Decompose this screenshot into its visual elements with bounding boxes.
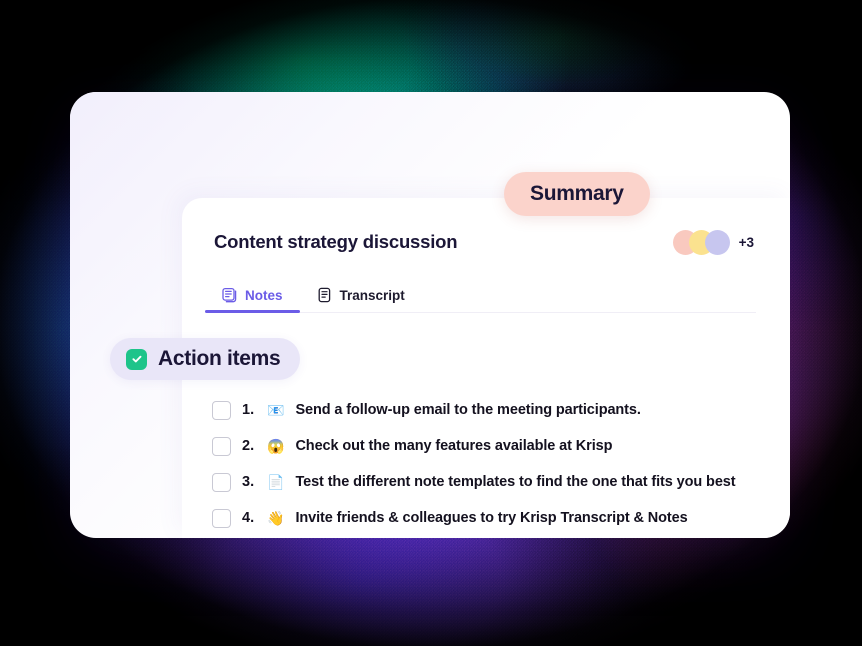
action-items-label: Action items xyxy=(158,347,280,371)
tab-bar: Notes Transcript xyxy=(216,276,756,313)
checkmark-icon xyxy=(126,349,147,370)
task-number: 1. xyxy=(242,402,256,418)
task-checkbox[interactable] xyxy=(212,473,231,492)
action-items-badge: Action items xyxy=(110,338,300,380)
tab-notes[interactable]: Notes xyxy=(216,287,289,312)
task-text: Test the different note templates to fin… xyxy=(295,474,735,490)
participants: +3 xyxy=(673,230,756,255)
task-text: Check out the many features available at… xyxy=(295,438,612,454)
page-title: Content strategy discussion xyxy=(214,231,457,253)
screaming-face-emoji: 😱 xyxy=(267,439,284,453)
list-item[interactable]: 1. 📧 Send a follow-up email to the meeti… xyxy=(212,392,780,428)
summary-badge[interactable]: Summary xyxy=(504,172,650,216)
list-item[interactable]: 4. 👋 Invite friends & colleagues to try … xyxy=(212,500,780,536)
tab-transcript-label: Transcript xyxy=(340,288,405,303)
page-emoji: 📄 xyxy=(267,475,284,489)
transcript-icon xyxy=(317,287,332,303)
waving-hand-emoji: 👋 xyxy=(267,511,284,525)
email-emoji: 📧 xyxy=(267,403,284,417)
avatar[interactable] xyxy=(705,230,730,255)
avatar-overflow-count: +3 xyxy=(739,235,754,250)
tab-notes-label: Notes xyxy=(245,288,283,303)
task-number: 2. xyxy=(242,438,256,454)
avatar-group[interactable] xyxy=(673,230,730,255)
screenshot-stage: Content strategy discussion +3 xyxy=(0,0,862,646)
tab-transcript[interactable]: Transcript xyxy=(311,287,411,312)
task-checkbox[interactable] xyxy=(212,509,231,528)
task-checkbox[interactable] xyxy=(212,401,231,420)
notes-icon xyxy=(222,287,237,303)
action-items-list: 1. 📧 Send a follow-up email to the meeti… xyxy=(212,392,780,536)
task-number: 3. xyxy=(242,474,256,490)
panel-header: Content strategy discussion +3 xyxy=(214,220,756,264)
app-card: Content strategy discussion +3 xyxy=(70,92,790,538)
list-item[interactable]: 3. 📄 Test the different note templates t… xyxy=(212,464,780,500)
task-number: 4. xyxy=(242,510,256,526)
task-text: Invite friends & colleagues to try Krisp… xyxy=(295,510,687,526)
task-text: Send a follow-up email to the meeting pa… xyxy=(295,402,640,418)
list-item[interactable]: 2. 😱 Check out the many features availab… xyxy=(212,428,780,464)
summary-badge-label: Summary xyxy=(530,182,624,205)
task-checkbox[interactable] xyxy=(212,437,231,456)
